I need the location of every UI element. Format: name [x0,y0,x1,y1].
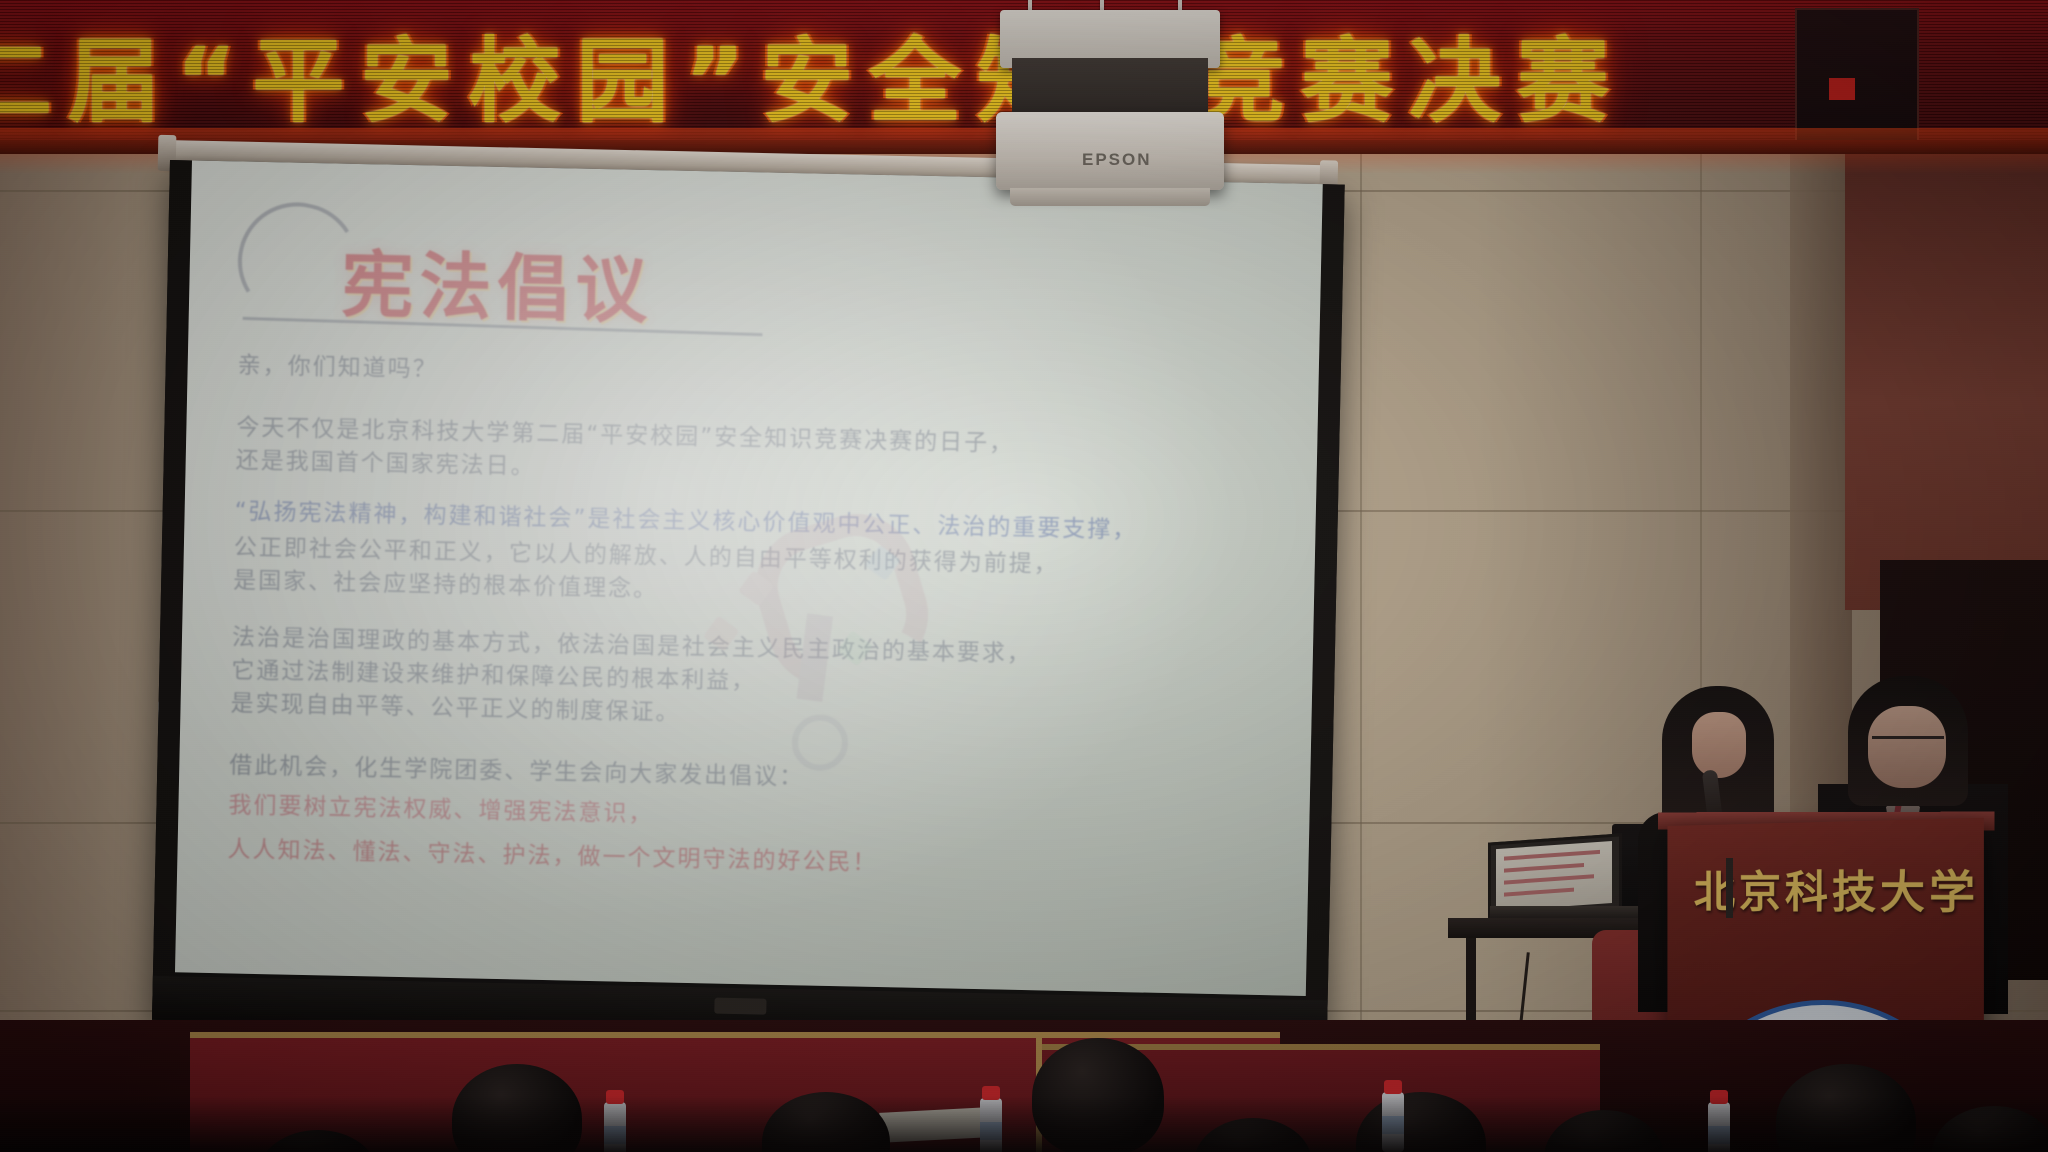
microphone-stand [1726,858,1733,918]
slide-subtitle: 亲，你们知道吗？ [237,349,1237,403]
screen-pull-handle [714,998,766,1015]
laptop-screen-line [1504,888,1574,897]
wall-right-panel [1845,150,2048,610]
led-banner-text: 二届“平安校园”安全知识竞赛决赛 [0,8,1680,138]
bottle-cap [1384,1080,1402,1094]
photo-scene: 二届“平安校园”安全知识竞赛决赛 宪法倡议 亲，你们知道吗？ 今天不仅是北京科技… [0,0,2048,1152]
wall-speaker [1795,8,1919,142]
glasses [1872,736,1944,751]
projector-base [1010,188,1210,206]
projection-screen: 宪法倡议 亲，你们知道吗？ 今天不仅是北京科技大学第二届“平安校园”安全知识竞赛… [175,160,1323,996]
decor-dot [791,714,848,771]
projector-brand-label: EPSON [1082,150,1152,170]
foreground-shadow [0,1096,2048,1152]
speaker-indicator [1829,78,1855,100]
laptop-screen-line [1504,850,1600,861]
decorative-question-mark-graphic [739,517,904,770]
projection-screen-frame: 宪法倡议 亲，你们知道吗？ 今天不仅是北京科技大学第二届“平安校园”安全知识竞赛… [152,160,1345,1044]
laptop-screen [1496,841,1612,911]
presenter-female-face [1692,712,1746,778]
laptop-screen-line [1504,863,1584,873]
laptop-screen-line [1504,874,1594,884]
slide-paragraph-7: 人人知法、懂法、守法、护法，做一个文明守法的好公民！ [227,833,1227,887]
wall-seam [1360,150,1362,1152]
slide-paragraph-1: 今天不仅是北京科技大学第二届“平安校园”安全知识竞赛决赛的日子， 还是我国首个国… [235,411,1236,498]
presentation-slide: 宪法倡议 亲，你们知道吗？ 今天不仅是北京科技大学第二届“平安校园”安全知识竞赛… [175,160,1323,996]
podium-institution-text: 北京科技大学 [1694,855,1967,921]
